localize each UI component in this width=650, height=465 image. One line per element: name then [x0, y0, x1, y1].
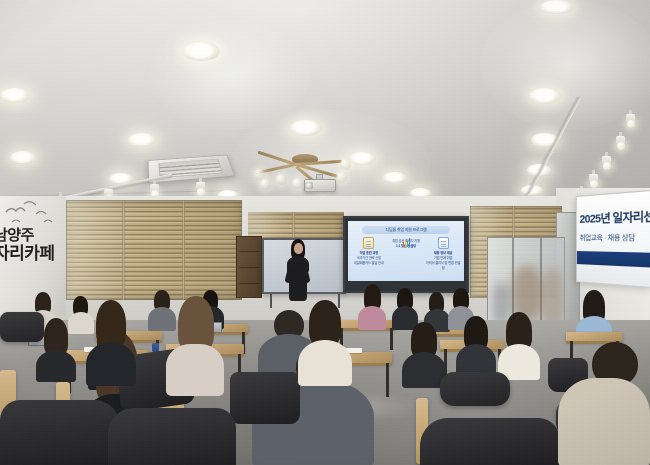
venue-sign-line2: 자리카페	[0, 245, 56, 263]
slide-column: 채용 정보 제공 기업 연계 취업 이력서 클리닉 및 면접 컨설팅	[426, 237, 461, 270]
banner-accent-bar	[577, 251, 650, 267]
document-icon	[438, 237, 449, 249]
chandelier-bulb	[276, 174, 287, 185]
slide-col3-line3: 이력서 클리닉 및 면접 컨설팅	[426, 261, 461, 271]
chandelier-bulb	[260, 179, 271, 190]
hair	[96, 300, 126, 348]
foreground-audience-member	[558, 342, 650, 465]
spot-bulb	[197, 188, 205, 196]
partition-silhouette	[542, 268, 564, 328]
presenter-head	[294, 243, 303, 254]
downlight-fixture	[182, 42, 220, 61]
wooden-cabinet	[236, 236, 262, 298]
downlight-fixture	[529, 88, 561, 104]
downlight-fixture	[10, 151, 36, 164]
audience-member	[358, 284, 386, 328]
downlight-fixture	[383, 172, 407, 183]
dark-chair	[440, 372, 510, 406]
slide-column: 취업 성공 패키지 지원 1:1 맞춤 컨설팅	[389, 237, 424, 249]
certificate-icon	[363, 237, 374, 249]
dark-chair	[0, 312, 44, 342]
block-red	[403, 242, 404, 247]
slide-column-text: 취업 성공 패키지 지원 1:1 맞춤 컨설팅	[392, 239, 420, 249]
table-leg	[386, 363, 389, 397]
banner-title: 2025년 일자리센터	[580, 207, 649, 227]
track-spotlight	[626, 110, 635, 126]
presenter	[283, 239, 313, 301]
draped-jacket	[230, 372, 300, 424]
slide-column: 직업 훈련 과정 국가기간 전략 산업 내일배움카드 발급 안내	[351, 237, 386, 265]
track-spotlight	[150, 180, 159, 196]
downlight-fixture	[540, 0, 574, 14]
torso	[86, 342, 136, 386]
banner-subtitle: 취업교육 · 채용 상담	[580, 232, 649, 243]
block-blue	[409, 238, 410, 247]
chandelier-bulb	[340, 159, 351, 170]
track-spotlight	[602, 152, 611, 168]
track-spotlight	[616, 132, 625, 148]
foreground-puffer-jacket	[0, 400, 120, 465]
foreground-puffer-jacket	[108, 408, 236, 465]
whiteboard-leg	[270, 294, 272, 308]
spot-bulb	[603, 162, 611, 170]
cabinet-shelf-line	[239, 251, 259, 252]
track-spotlight	[196, 178, 205, 194]
window-frame-left	[66, 200, 242, 300]
foreground-puffer-jacket	[420, 418, 560, 465]
chandelier-arm	[257, 151, 296, 166]
downlight-fixture	[128, 133, 156, 147]
event-banner: 2025년 일자리센터 취업교육 · 채용 상담	[576, 190, 650, 288]
projection-screen: 디딤돌 취업 지원 프로그램 직업 훈련 과정 국가기간 전략 산업 내일배움카…	[343, 216, 469, 293]
table-row	[566, 332, 622, 341]
foreground-audience-member	[166, 296, 224, 392]
torso	[298, 340, 352, 386]
projector-lens	[305, 182, 313, 189]
block-green	[407, 241, 408, 247]
slide-column-text: 채용 정보 제공 기업 연계 취업 이력서 클리닉 및 면접 컨설팅	[426, 251, 461, 270]
audience-member	[402, 322, 446, 386]
audience-member	[298, 300, 352, 384]
slide-column-text: 직업 훈련 과정 국가기간 전략 산업 내일배움카드 발급 안내	[354, 251, 384, 265]
spot-bulb	[627, 120, 635, 128]
track-spotlight	[589, 170, 598, 186]
spot-bulb	[617, 142, 625, 150]
venue-sign-line1: 남양주	[0, 228, 56, 244]
cabinet-shelf-line	[239, 267, 259, 268]
photo-scene: 남양주 자리카페 2025년 일자리센터 취업교육 · 채용 상담 디딤돌 취업…	[0, 0, 650, 465]
venue-wall-sign: 남양주 자리카페	[0, 228, 56, 278]
colored-blocks-graphic	[403, 246, 411, 248]
spot-bulb	[590, 180, 598, 188]
block-yellow	[405, 239, 406, 247]
slide-title-bar: 디딤돌 취업 지원 프로그램	[362, 226, 450, 234]
downlight-fixture	[0, 88, 30, 103]
audience-member	[86, 300, 136, 384]
slide-title: 디딤돌 취업 지원 프로그램	[362, 226, 450, 234]
ceiling-projector	[300, 174, 340, 194]
torso	[166, 344, 224, 396]
slide-col1-line3: 내일배움카드 발급 안내	[354, 261, 384, 266]
torso	[36, 350, 76, 382]
downlight-fixture	[290, 120, 322, 136]
table-leg	[390, 328, 393, 350]
audience-member	[456, 316, 496, 376]
wall-decor-birds-icon	[2, 198, 62, 228]
slide-content: 디딤돌 취업 지원 프로그램 직업 훈련 과정 국가기간 전략 산업 내일배움카…	[348, 221, 464, 281]
torso	[558, 378, 650, 465]
cabinet-shelf-line	[239, 283, 259, 284]
torso	[358, 306, 386, 330]
audience-member	[498, 312, 540, 378]
